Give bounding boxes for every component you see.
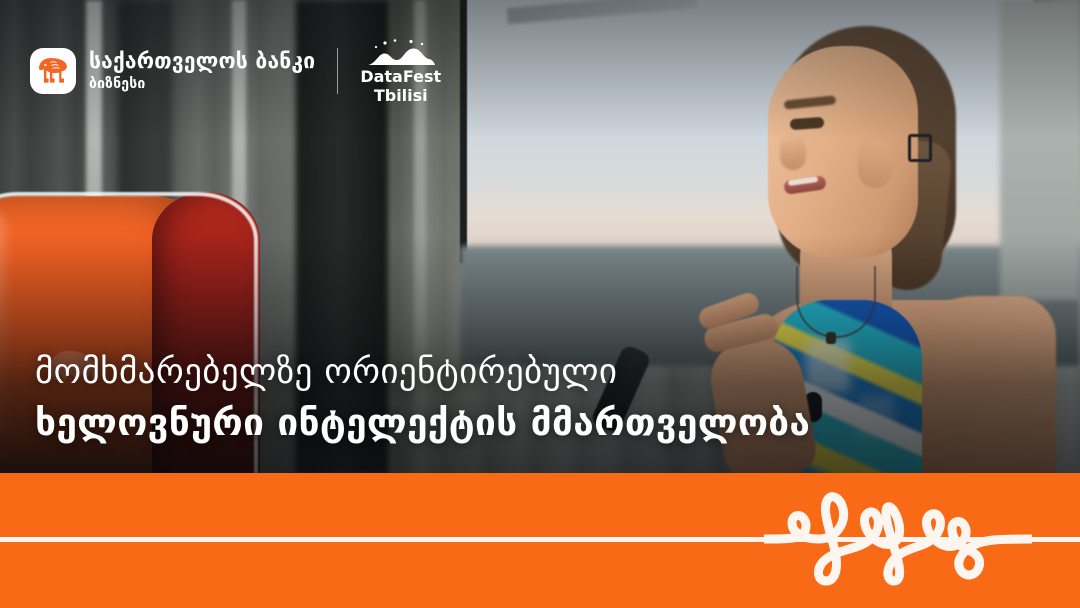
logo-divider xyxy=(337,48,338,94)
header-logos: საქართველოს ბანკი ბიზნესი DataFest Tbili… xyxy=(30,38,441,104)
title-line-1: მომხმარებელზე ორიენტირებული xyxy=(35,352,810,393)
bank-sub-label: ბიზნესი xyxy=(89,77,315,91)
datafest-logo: DataFest Tbilisi xyxy=(360,38,441,104)
bog-dog-mark-icon xyxy=(35,54,71,88)
bog-mark-tile xyxy=(30,48,76,94)
shegidzlia-script-logo xyxy=(764,481,1032,599)
bank-of-georgia-logo: საქართველოს ბანკი ბიზნესი xyxy=(30,48,315,94)
orange-footer-bar xyxy=(0,473,1080,608)
datafest-city-label: Tbilisi xyxy=(374,88,428,104)
datafest-mountains-icon xyxy=(365,38,437,66)
promo-banner: საქართველოს ბანკი ბიზნესი DataFest Tbili… xyxy=(0,0,1080,608)
datafest-name-label: DataFest xyxy=(360,69,441,85)
hair-clip-icon xyxy=(908,134,932,162)
bank-name-label: საქართველოს ბანკი xyxy=(89,51,315,72)
page-title: მომხმარებელზე ორიენტირებული ხელოვნური ინ… xyxy=(35,352,810,445)
title-line-2: ხელოვნური ინტელექტის მმართველობა xyxy=(35,401,810,445)
